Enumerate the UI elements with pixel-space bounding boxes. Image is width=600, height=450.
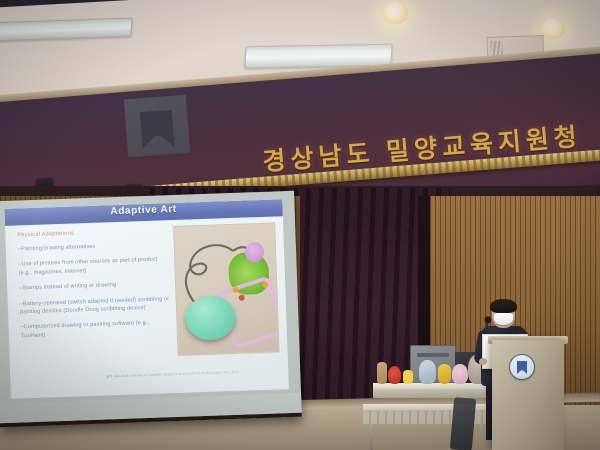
toy-pink-bunny-plush xyxy=(452,364,468,384)
ceiling-downlight xyxy=(383,2,408,24)
presenter-hand-left xyxy=(479,358,487,365)
slide-citation: 출처: Mari Beth Coleman & Elizabeth Stepha… xyxy=(106,367,278,378)
toy-minion-figure xyxy=(438,364,451,384)
slide-bullet: –Battery-operated (switch adapted if nee… xyxy=(20,295,172,317)
lecture-hall-photo: 경상남도 밀양교육지원청 Adaptive Art Physical Adapt… xyxy=(0,0,600,450)
slide-photo-adaptive-switch-toy xyxy=(173,222,279,355)
slide-bullet: –Stamps instead of writing or drawing xyxy=(19,279,171,293)
presentation-slide: Adaptive Art Physical Adaptations –Paint… xyxy=(4,199,288,399)
presenter-hair xyxy=(490,299,517,313)
education-office-emblem-icon xyxy=(136,107,177,152)
ceiling-downlight xyxy=(541,18,565,39)
presenter-face-mask xyxy=(494,313,513,325)
table-leg xyxy=(370,424,373,450)
toy-blue-doll xyxy=(419,360,436,384)
slide-bullet: –Computerized drawing or painting softwa… xyxy=(20,318,172,340)
slide-bullet: –Use of pictures from other sources as p… xyxy=(18,256,170,278)
toy-wooden-figure xyxy=(377,362,387,384)
toy-red-parrot-plush xyxy=(388,366,401,384)
slide-body: Physical Adaptations –Painting/drawing a… xyxy=(17,227,173,347)
slide-bullet: –Painting/drawing alternatives xyxy=(18,240,170,254)
podium-emblem-icon xyxy=(509,354,535,380)
toy-yellow-block xyxy=(403,370,413,384)
slide-subhead: Physical Adaptations xyxy=(17,227,169,238)
projection-screen: Adaptive Art Physical Adaptations –Paint… xyxy=(0,191,302,427)
